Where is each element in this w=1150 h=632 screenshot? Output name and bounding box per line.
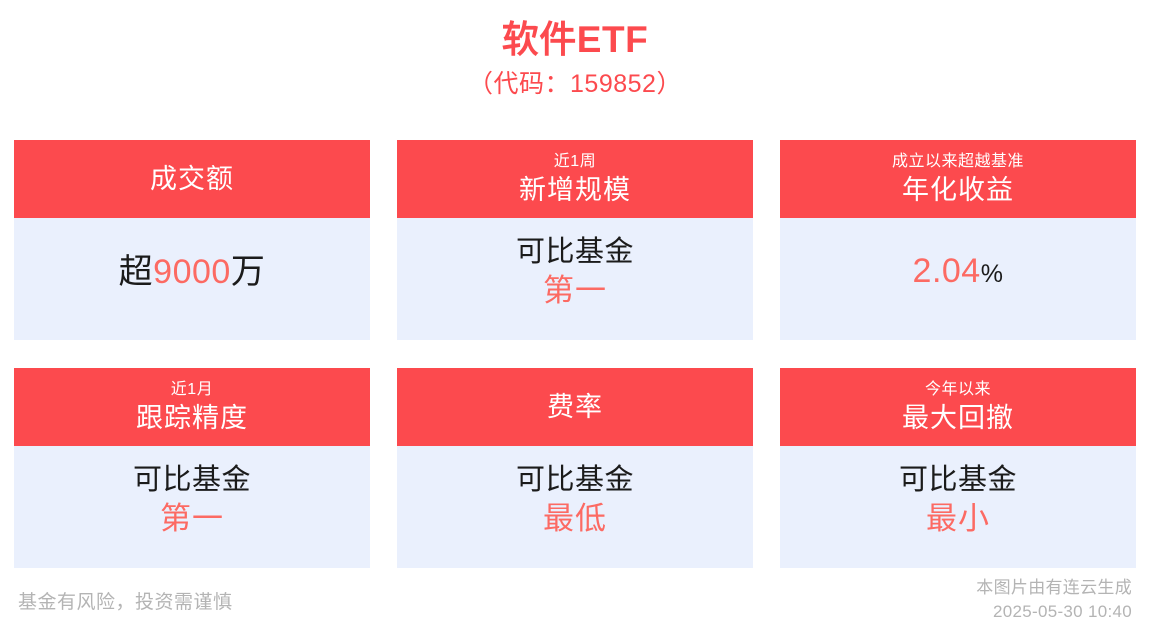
page-title: 软件ETF [0, 16, 1150, 64]
title-block: 软件ETF （代码：159852） [0, 0, 1150, 102]
metric-value: 超9000万 [119, 250, 266, 294]
metric-card-heading: 年化收益 [902, 173, 1014, 207]
metric-card-header: 费率 [397, 368, 753, 446]
metric-value-suffix: 万 [231, 253, 266, 291]
fund-code-subtitle: （代码：159852） [0, 66, 1150, 102]
metric-card-eyebrow: 近1月 [171, 379, 213, 401]
generation-source: 本图片由有连云生成 [976, 576, 1132, 600]
metric-card-heading: 费率 [547, 390, 603, 424]
metric-card-heading: 跟踪精度 [136, 401, 248, 435]
metric-value-label: 可比基金 [133, 461, 251, 499]
metric-card-turnover: 成交额 超9000万 [14, 140, 370, 340]
metric-value-label: 可比基金 [516, 233, 634, 271]
metric-value-rank: 最小 [926, 499, 990, 539]
metric-card-body: 可比基金 第一 [14, 446, 370, 568]
metric-value-rank: 最低 [543, 499, 607, 539]
metric-card-tracking-precision: 近1月 跟踪精度 可比基金 第一 [14, 368, 370, 568]
metric-value: 2.04% [913, 249, 1004, 296]
metric-card-eyebrow: 成立以来超越基准 [892, 151, 1024, 173]
metric-card-max-drawdown: 今年以来 最大回撤 可比基金 最小 [780, 368, 1136, 568]
metric-value-number: 2.04 [913, 252, 981, 290]
generation-timestamp: 2025-05-30 10:40 [976, 600, 1132, 624]
metric-card-heading: 新增规模 [519, 173, 631, 207]
metric-value-rank: 第一 [543, 271, 607, 311]
metric-value-unit: % [981, 260, 1004, 288]
metric-card-grid: 成交额 超9000万 近1周 新增规模 可比基金 第一 成立以来超越基准 年化收… [14, 140, 1136, 568]
metric-card-body: 可比基金 最小 [780, 446, 1136, 568]
metric-value-rank: 第一 [160, 499, 224, 539]
metric-card-fee-rate: 费率 可比基金 最低 [397, 368, 753, 568]
metric-value-prefix: 超 [119, 253, 154, 291]
metric-card-new-scale: 近1周 新增规模 可比基金 第一 [397, 140, 753, 340]
metric-card-eyebrow: 近1周 [554, 151, 596, 173]
metric-card-header: 成交额 [14, 140, 370, 218]
metric-card-eyebrow: 今年以来 [925, 379, 991, 401]
metric-card-header: 近1月 跟踪精度 [14, 368, 370, 446]
metric-card-heading: 最大回撤 [902, 401, 1014, 435]
metric-card-body: 可比基金 第一 [397, 218, 753, 340]
etf-info-card-page: 软件ETF （代码：159852） 成交额 超9000万 近1周 新增规模 可比… [0, 0, 1150, 632]
generation-info: 本图片由有连云生成 2025-05-30 10:40 [976, 576, 1132, 624]
metric-card-heading: 成交额 [150, 162, 234, 196]
metric-value-number: 9000 [153, 253, 231, 291]
metric-value-label: 可比基金 [516, 461, 634, 499]
metric-card-body: 2.04% [780, 218, 1136, 340]
metric-value-label: 可比基金 [899, 461, 1017, 499]
metric-card-body: 可比基金 最低 [397, 446, 753, 568]
risk-disclaimer: 基金有风险，投资需谨慎 [18, 587, 233, 614]
footer: 基金有风险，投资需谨慎 本图片由有连云生成 2025-05-30 10:40 [0, 568, 1150, 632]
metric-card-header: 成立以来超越基准 年化收益 [780, 140, 1136, 218]
metric-card-header: 今年以来 最大回撤 [780, 368, 1136, 446]
metric-card-header: 近1周 新增规模 [397, 140, 753, 218]
metric-card-body: 超9000万 [14, 218, 370, 340]
metric-card-annualized-excess-return: 成立以来超越基准 年化收益 2.04% [780, 140, 1136, 340]
